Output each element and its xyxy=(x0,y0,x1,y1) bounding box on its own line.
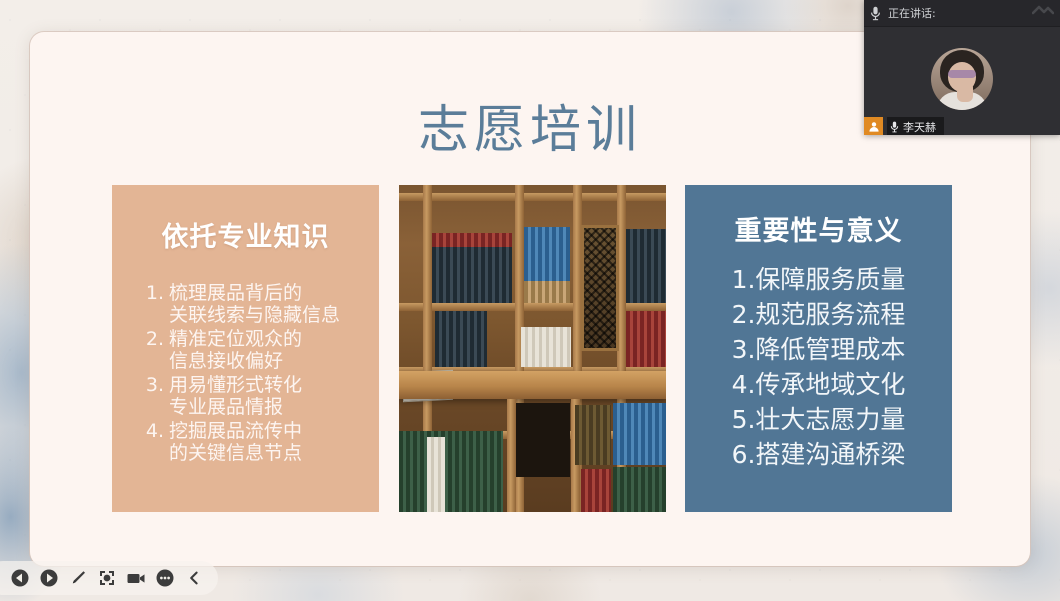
previous-slide-button[interactable] xyxy=(8,566,32,590)
slide-columns: 依托专业知识 1. 梳理展品背后的 关联线索与隐藏信息 2. 精准定位观众的 xyxy=(112,185,952,512)
collapse-toolbar-button[interactable] xyxy=(182,566,206,590)
left-panel-heading: 依托专业知识 xyxy=(122,215,369,254)
list-item-line1: 精准定位观众的 xyxy=(169,328,302,350)
host-badge xyxy=(864,117,883,135)
list-item-number: 1. xyxy=(138,282,169,304)
list-item: 1.保障服务质量 xyxy=(695,262,942,297)
right-panel-heading: 重要性与意义 xyxy=(695,209,942,248)
signal-icon xyxy=(1032,4,1054,18)
list-item-line2: 关联线索与隐藏信息 xyxy=(169,304,365,326)
list-item-text: 挖掘展品流传中 的关键信息节点 xyxy=(169,420,365,464)
presentation-window: 志愿培训 依托专业知识 1. 梳理展品背后的 关联线索与隐藏信息 2. xyxy=(0,0,1060,601)
left-panel-list: 1. 梳理展品背后的 关联线索与隐藏信息 2. 精准定位观众的 信息接收偏好 xyxy=(122,282,369,464)
video-participant-panel[interactable]: 正在讲话: xyxy=(864,0,1060,135)
list-item: 4. 挖掘展品流传中 的关键信息节点 xyxy=(138,420,365,464)
list-item-number: 3. xyxy=(138,374,169,396)
list-item: 3. 用易懂形式转化 专业展品情报 xyxy=(138,374,365,418)
ellipsis-circle-icon xyxy=(155,568,175,588)
more-options-button[interactable] xyxy=(153,566,177,590)
host-person-icon xyxy=(868,121,880,133)
center-photo-panel xyxy=(399,185,666,512)
video-panel-header: 正在讲话: xyxy=(864,0,1060,27)
list-item-text: 用易懂形式转化 专业展品情报 xyxy=(169,374,365,418)
list-item-line1: 梳理展品背后的 xyxy=(169,282,302,304)
list-item: 5.壮大志愿力量 xyxy=(695,402,942,437)
participant-name-chip: 李天赫 xyxy=(887,117,944,135)
left-arrow-circle-icon xyxy=(10,568,30,588)
library-bookshelf-photo xyxy=(399,185,666,512)
video-panel-body[interactable]: 李天赫 xyxy=(864,27,1060,135)
chevron-left-icon xyxy=(184,568,204,588)
spotlight-button[interactable] xyxy=(95,566,119,590)
left-panel: 依托专业知识 1. 梳理展品背后的 关联线索与隐藏信息 2. 精准定位观众的 xyxy=(112,185,379,512)
list-item-line2: 信息接收偏好 xyxy=(169,350,365,372)
speaking-status-label: 正在讲话: xyxy=(888,5,936,21)
list-item-text: 梳理展品背后的 关联线索与隐藏信息 xyxy=(169,282,365,326)
video-camera-icon xyxy=(125,568,147,588)
list-item-text: 精准定位观众的 信息接收偏好 xyxy=(169,328,365,372)
list-item-number: 2. xyxy=(138,328,169,350)
right-arrow-circle-icon xyxy=(39,568,59,588)
list-item: 4.传承地域文化 xyxy=(695,367,942,402)
participant-footer: 李天赫 xyxy=(864,117,944,135)
list-item-line2: 专业展品情报 xyxy=(169,396,365,418)
right-panel-list: 1.保障服务质量 2.规范服务流程 3.降低管理成本 4.传承地域文化 5.壮大… xyxy=(695,262,942,472)
presenter-toolbar[interactable] xyxy=(0,561,218,595)
list-item-line1: 挖掘展品流传中 xyxy=(169,420,302,442)
list-item-line2: 的关键信息节点 xyxy=(169,442,365,464)
list-item: 3.降低管理成本 xyxy=(695,332,942,367)
right-panel: 重要性与意义 1.保障服务质量 2.规范服务流程 3.降低管理成本 4.传承地域… xyxy=(685,185,952,512)
participant-name: 李天赫 xyxy=(903,119,936,135)
microphone-icon xyxy=(890,121,899,133)
list-item: 1. 梳理展品背后的 关联线索与隐藏信息 xyxy=(138,282,365,326)
pen-tool-button[interactable] xyxy=(66,566,90,590)
avatar xyxy=(931,48,993,110)
list-item: 2. 精准定位观众的 信息接收偏好 xyxy=(138,328,365,372)
record-button[interactable] xyxy=(124,566,148,590)
list-item: 2.规范服务流程 xyxy=(695,297,942,332)
list-item-number: 4. xyxy=(138,420,169,442)
spotlight-frame-icon xyxy=(97,568,117,588)
list-item-line1: 用易懂形式转化 xyxy=(169,374,302,396)
list-item: 6.搭建沟通桥梁 xyxy=(695,437,942,472)
microphone-icon xyxy=(870,6,881,21)
pen-icon xyxy=(68,568,88,588)
next-slide-button[interactable] xyxy=(37,566,61,590)
